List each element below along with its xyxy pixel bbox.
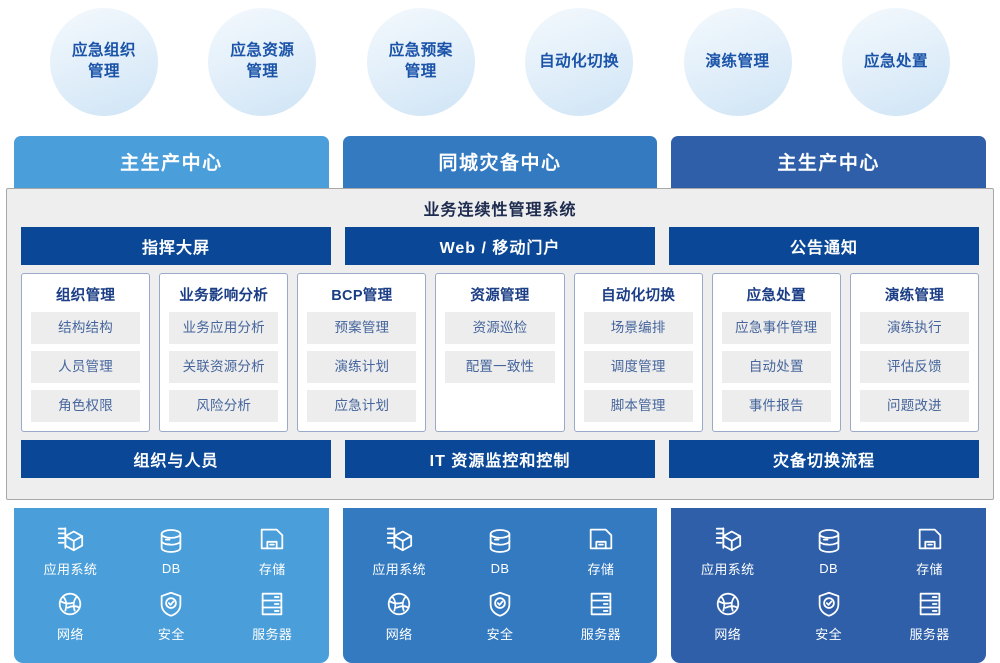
- database-icon: [485, 526, 515, 556]
- data-center-header-row: 主生产中心 同城灾备中心 主生产中心: [0, 136, 1000, 192]
- infrastructure-row: 应用系统DB存储网络安全服务器应用系统DB存储网络安全服务器应用系统DB存储网络…: [0, 508, 1000, 663]
- infrastructure-item-label: 存储: [587, 559, 614, 578]
- bcm-system-title: 业务连续性管理系统: [7, 189, 993, 227]
- infrastructure-item-label: DB: [491, 561, 510, 576]
- infrastructure-item-label: 网络: [714, 624, 741, 643]
- server-rack-icon: [257, 589, 287, 619]
- network-icon: [713, 589, 743, 619]
- infrastructure-item-label: 安全: [487, 624, 514, 643]
- capability-circle-0[interactable]: 应急组织管理: [50, 8, 158, 116]
- module-card-item[interactable]: 脚本管理: [584, 390, 693, 422]
- infrastructure-item[interactable]: 服务器: [581, 589, 621, 643]
- capability-circle-label-5: 应急处置: [858, 52, 934, 73]
- module-card-item[interactable]: 应急计划: [307, 390, 416, 422]
- infrastructure-item[interactable]: DB: [485, 526, 515, 576]
- diagram-canvas: 应急组织管理 应急资源管理 应急预案管理 自动化切换 演练管理 应急处置 主生产…: [0, 0, 1000, 663]
- module-card-item[interactable]: 业务应用分析: [169, 312, 278, 344]
- infrastructure-item[interactable]: 服务器: [909, 589, 949, 643]
- module-card: BCP管理预案管理演练计划应急计划: [297, 273, 426, 432]
- capability-circle-label-3: 自动化切换: [533, 52, 625, 73]
- module-card-item[interactable]: 自动处置: [722, 351, 831, 383]
- bottom-bar-0[interactable]: 组织与人员: [21, 440, 331, 478]
- module-card-item[interactable]: 结构结构: [31, 312, 140, 344]
- capability-circle-5[interactable]: 应急处置: [842, 8, 950, 116]
- capability-circle-label-0: 应急组织管理: [66, 41, 142, 83]
- module-card: 演练管理演练执行评估反馈问题改进: [850, 273, 979, 432]
- infrastructure-item[interactable]: 应用系统: [372, 524, 426, 578]
- top-bar-0[interactable]: 指挥大屏: [21, 227, 331, 265]
- module-card-item[interactable]: 角色权限: [31, 390, 140, 422]
- network-icon: [384, 589, 414, 619]
- infrastructure-item-label: 存储: [259, 559, 286, 578]
- module-card-title: 业务影响分析: [169, 282, 278, 312]
- database-icon: [156, 526, 186, 556]
- module-card-item[interactable]: 资源巡检: [445, 312, 554, 344]
- capability-circle-label-2: 应急预案管理: [383, 41, 459, 83]
- infrastructure-panel: 应用系统DB存储网络安全服务器: [14, 508, 329, 663]
- database-icon: [814, 526, 844, 556]
- data-center-header-0[interactable]: 主生产中心: [14, 136, 329, 192]
- capability-circle-2[interactable]: 应急预案管理: [367, 8, 475, 116]
- module-card-item[interactable]: 关联资源分析: [169, 351, 278, 383]
- network-icon: [55, 589, 85, 619]
- infrastructure-item-label: 应用系统: [701, 559, 755, 578]
- server-rack-icon: [915, 589, 945, 619]
- infrastructure-item[interactable]: 服务器: [252, 589, 292, 643]
- bcm-system-panel: 业务连续性管理系统 指挥大屏 Web / 移动门户 公告通知 组织管理结构结构人…: [6, 188, 994, 500]
- module-card-item[interactable]: 演练执行: [860, 312, 969, 344]
- module-card-title: 自动化切换: [584, 282, 693, 312]
- infrastructure-item[interactable]: 安全: [156, 589, 186, 643]
- infrastructure-item-label: 应用系统: [44, 559, 98, 578]
- infrastructure-item-label: 应用系统: [372, 559, 426, 578]
- bottom-bar-1[interactable]: IT 资源监控和控制: [345, 440, 655, 478]
- storage-icon: [915, 524, 945, 554]
- infrastructure-item-label: 服务器: [252, 624, 292, 643]
- infrastructure-panel: 应用系统DB存储网络安全服务器: [343, 508, 658, 663]
- module-card-row: 组织管理结构结构人员管理角色权限业务影响分析业务应用分析关联资源分析风险分析BC…: [7, 265, 993, 440]
- security-shield-icon: [156, 589, 186, 619]
- infrastructure-item-label: 网络: [57, 624, 84, 643]
- module-card: 应急处置应急事件管理自动处置事件报告: [712, 273, 841, 432]
- module-card-item[interactable]: 调度管理: [584, 351, 693, 383]
- bottom-bar-row: 组织与人员 IT 资源监控和控制 灾备切换流程: [7, 440, 993, 478]
- module-card-item[interactable]: 应急事件管理: [722, 312, 831, 344]
- module-card-item[interactable]: 事件报告: [722, 390, 831, 422]
- module-card-item[interactable]: 配置一致性: [445, 351, 554, 383]
- infrastructure-item-label: 安全: [815, 624, 842, 643]
- infrastructure-item[interactable]: 应用系统: [44, 524, 98, 578]
- capability-circle-1[interactable]: 应急资源管理: [208, 8, 316, 116]
- top-bar-2[interactable]: 公告通知: [669, 227, 979, 265]
- module-card-item[interactable]: 评估反馈: [860, 351, 969, 383]
- infrastructure-item-label: DB: [819, 561, 838, 576]
- security-shield-icon: [485, 589, 515, 619]
- infrastructure-item[interactable]: 网络: [384, 589, 414, 643]
- module-card: 组织管理结构结构人员管理角色权限: [21, 273, 150, 432]
- module-card-title: BCP管理: [307, 282, 416, 312]
- infrastructure-item[interactable]: 应用系统: [701, 524, 755, 578]
- security-shield-icon: [814, 589, 844, 619]
- capability-circle-row: 应急组织管理 应急资源管理 应急预案管理 自动化切换 演练管理 应急处置: [0, 0, 1000, 124]
- infrastructure-panel: 应用系统DB存储网络安全服务器: [671, 508, 986, 663]
- data-center-header-2[interactable]: 主生产中心: [671, 136, 986, 192]
- module-card-item[interactable]: 问题改进: [860, 390, 969, 422]
- module-card-item[interactable]: 人员管理: [31, 351, 140, 383]
- infrastructure-item[interactable]: 存储: [915, 524, 945, 578]
- app-system-icon: [713, 524, 743, 554]
- infrastructure-item-label: 网络: [386, 624, 413, 643]
- infrastructure-item[interactable]: DB: [156, 526, 186, 576]
- infrastructure-item-label: 存储: [916, 559, 943, 578]
- module-card-title: 组织管理: [31, 282, 140, 312]
- top-bar-row: 指挥大屏 Web / 移动门户 公告通知: [7, 227, 993, 265]
- module-card: 自动化切换场景编排调度管理脚本管理: [574, 273, 703, 432]
- infrastructure-item-label: 安全: [158, 624, 185, 643]
- bottom-bar-2[interactable]: 灾备切换流程: [669, 440, 979, 478]
- infrastructure-item-label: 服务器: [581, 624, 621, 643]
- module-card-title: 资源管理: [445, 282, 554, 312]
- infrastructure-item[interactable]: 存储: [586, 524, 616, 578]
- infrastructure-item[interactable]: 网络: [55, 589, 85, 643]
- module-card-item[interactable]: 场景编排: [584, 312, 693, 344]
- server-rack-icon: [586, 589, 616, 619]
- module-card-title: 应急处置: [722, 282, 831, 312]
- module-card: 业务影响分析业务应用分析关联资源分析风险分析: [159, 273, 288, 432]
- top-bar-1[interactable]: Web / 移动门户: [345, 227, 655, 265]
- module-card-title: 演练管理: [860, 282, 969, 312]
- module-card-item[interactable]: 演练计划: [307, 351, 416, 383]
- capability-circle-4[interactable]: 演练管理: [684, 8, 792, 116]
- storage-icon: [257, 524, 287, 554]
- infrastructure-item-label: DB: [162, 561, 181, 576]
- capability-circle-3[interactable]: 自动化切换: [525, 8, 633, 116]
- capability-circle-label-1: 应急资源管理: [224, 41, 300, 83]
- module-card-item[interactable]: 预案管理: [307, 312, 416, 344]
- infrastructure-item-label: 服务器: [909, 624, 949, 643]
- capability-circle-label-4: 演练管理: [700, 52, 776, 73]
- infrastructure-item[interactable]: DB: [814, 526, 844, 576]
- module-card: 资源管理资源巡检配置一致性: [435, 273, 564, 432]
- module-card-item[interactable]: 风险分析: [169, 390, 278, 422]
- infrastructure-item[interactable]: 存储: [257, 524, 287, 578]
- app-system-icon: [384, 524, 414, 554]
- data-center-header-1[interactable]: 同城灾备中心: [343, 136, 658, 192]
- infrastructure-item[interactable]: 安全: [814, 589, 844, 643]
- app-system-icon: [55, 524, 85, 554]
- infrastructure-item[interactable]: 网络: [713, 589, 743, 643]
- infrastructure-item[interactable]: 安全: [485, 589, 515, 643]
- storage-icon: [586, 524, 616, 554]
